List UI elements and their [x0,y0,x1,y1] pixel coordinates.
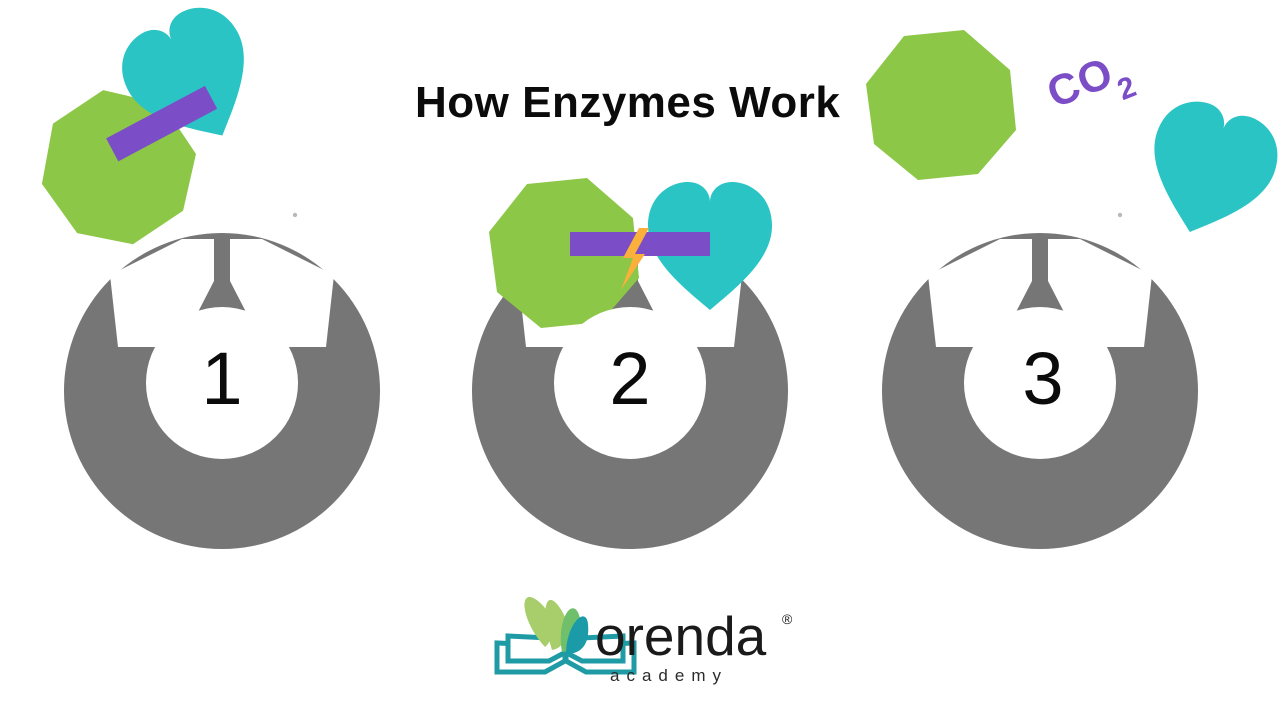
step-1-group: 1 [2,0,380,549]
co2-subscript-text: 2 [1113,70,1142,107]
orenda-academy-logo: orenda ® academy [497,597,793,685]
slide-graphics: How Enzymes Work 1 [0,0,1280,720]
slide-canvas: How Enzymes Work 1 [0,0,1280,720]
artifact-speck-right [1118,213,1122,217]
product-octagon [866,30,1016,180]
step-2-group: 2 [472,178,788,549]
step-3-group: CO 2 3 [866,30,1280,549]
logo-wordmark: orenda [595,605,767,667]
step-1-substrate [2,0,303,269]
product-heart [1131,91,1280,251]
step-number-2: 2 [609,337,650,420]
logo-subtitle: academy [610,666,728,685]
co2-label: CO 2 [1041,42,1142,132]
step-number-3: 3 [1022,337,1063,420]
co2-main-text: CO [1041,48,1121,117]
page-title: How Enzymes Work [415,78,840,127]
step-number-1: 1 [201,337,242,420]
artifact-speck-left [293,213,297,217]
logo-registered-mark: ® [782,611,793,627]
